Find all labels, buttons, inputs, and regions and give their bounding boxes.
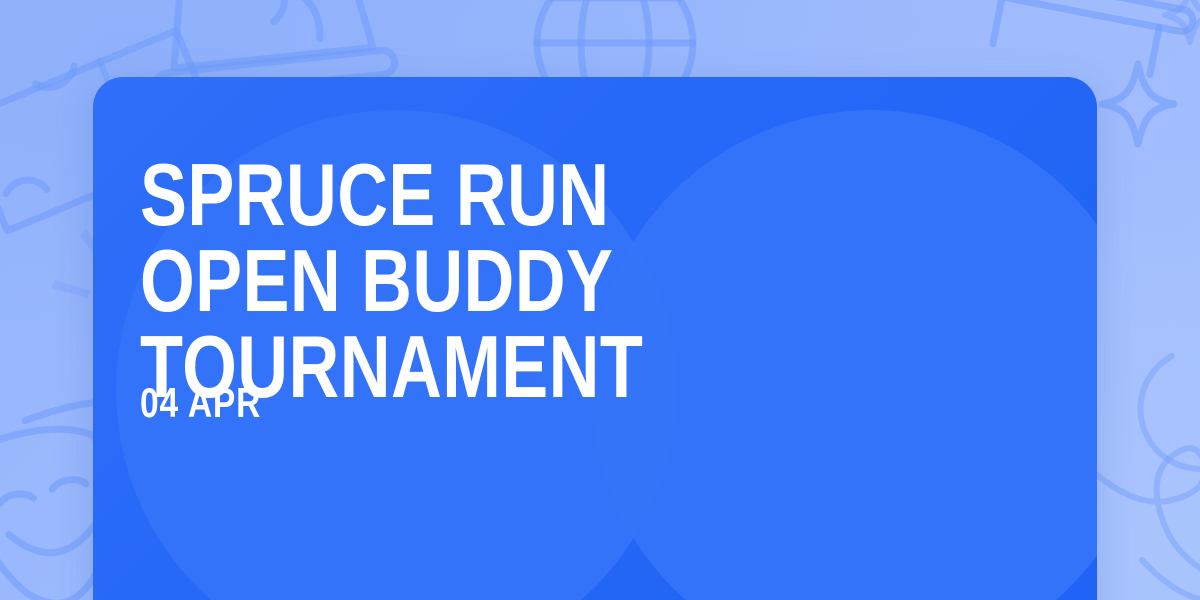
card-content: Spruce Run Open Buddy Tournament 04 Apr — [140, 77, 1057, 600]
event-date: 04 Apr — [140, 382, 261, 424]
event-card[interactable]: Spruce Run Open Buddy Tournament 04 Apr — [93, 77, 1097, 600]
event-title: Spruce Run Open Buddy Tournament — [140, 152, 748, 411]
event-banner: Spruce Run Open Buddy Tournament 04 Apr — [0, 0, 1200, 600]
